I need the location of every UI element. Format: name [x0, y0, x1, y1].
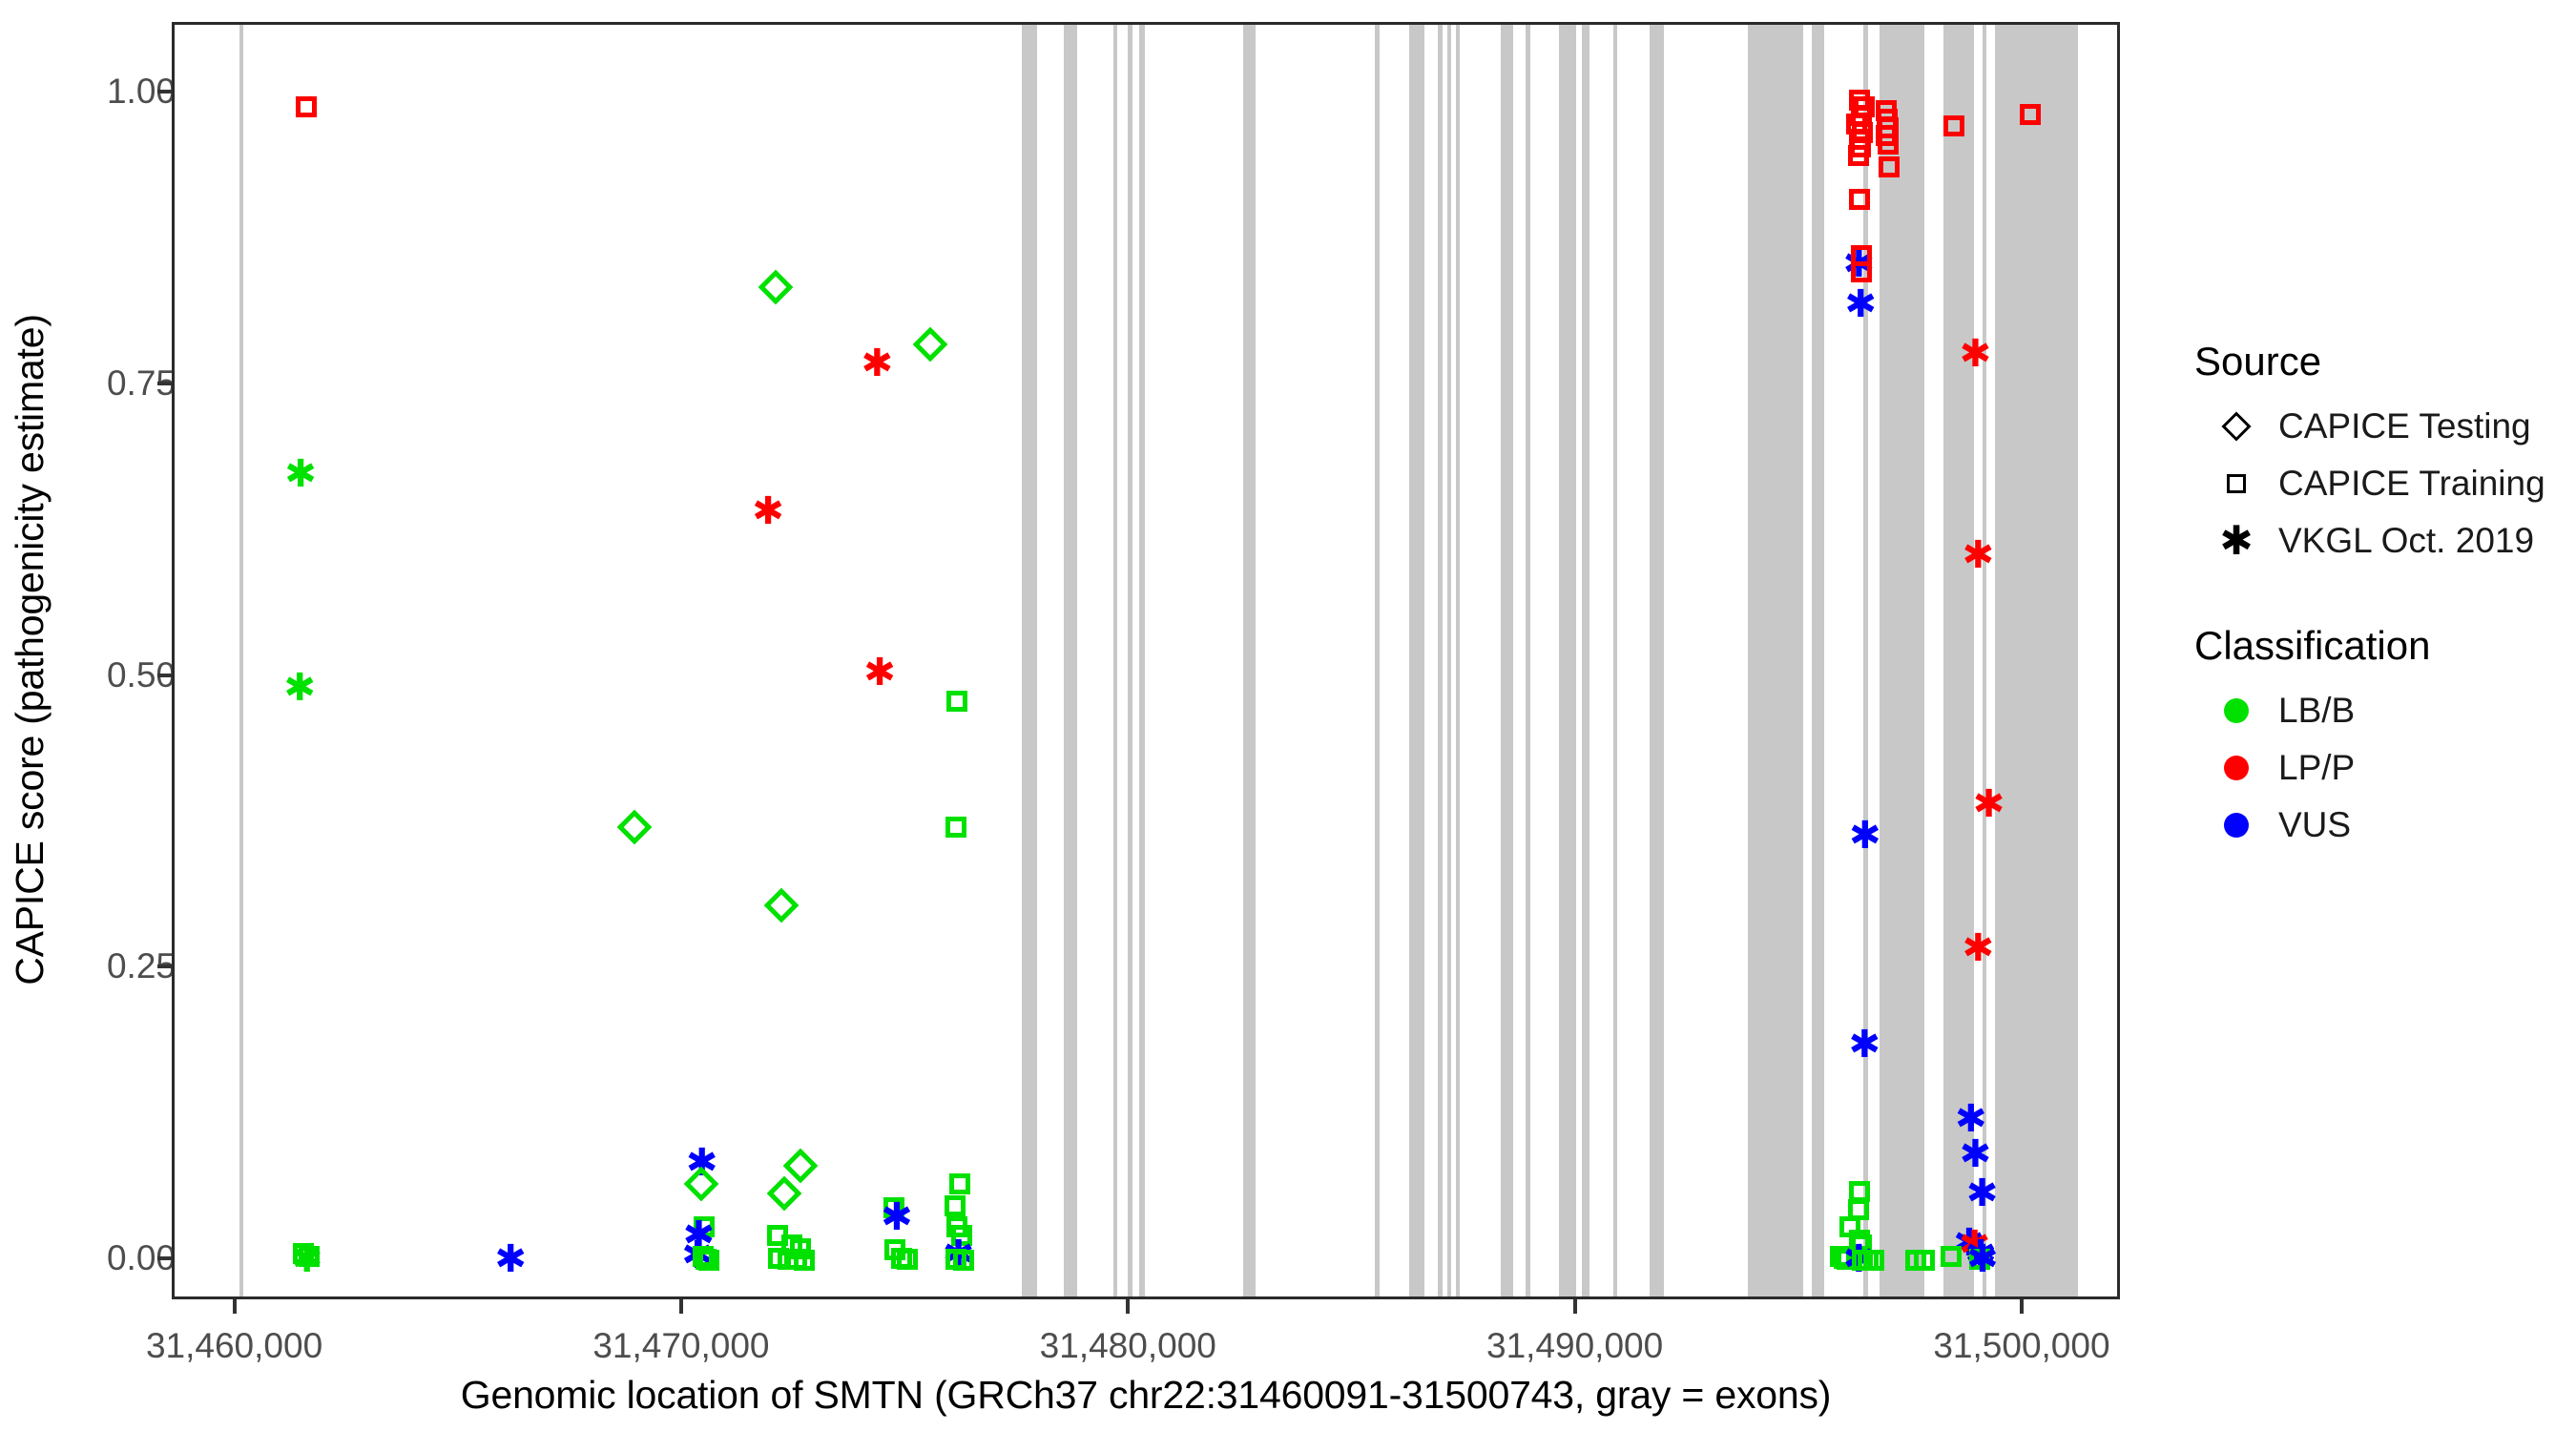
data-point-square: [296, 96, 317, 117]
data-point-diamond: [617, 810, 653, 845]
data-point-square: [897, 1249, 918, 1270]
exon-band: [1613, 25, 1617, 1296]
legend-source-item-row[interactable]: ✱VKGL Oct. 2019: [2194, 512, 2576, 570]
y-axis-title: CAPICE score (pathogenicity estimate): [0, 0, 59, 1299]
x-tick-mark: [233, 1299, 237, 1314]
legend-classification-item-row[interactable]: LP/P: [2194, 739, 2576, 797]
y-tick-label: 1.00: [4, 72, 176, 112]
plot-panel: ✱✱✱✱✱✱✱✱✱✱✱✱✱✱✱✱✱✱✱✱✱✱✱✱✱✱✱✱: [172, 22, 2120, 1299]
data-point-square: [794, 1250, 815, 1271]
plot-area: ✱✱✱✱✱✱✱✱✱✱✱✱✱✱✱✱✱✱✱✱✱✱✱✱✱✱✱✱: [175, 25, 2117, 1296]
legend-source-item-label: CAPICE Testing: [2278, 406, 2531, 446]
exon-band: [1526, 25, 1531, 1296]
legend-source-item-row[interactable]: CAPICE Testing: [2194, 398, 2576, 455]
exon-band: [1022, 25, 1037, 1296]
x-tick-mark: [1126, 1299, 1130, 1314]
data-point-square: [1849, 189, 1870, 210]
diamond-outline-icon: [2194, 416, 2278, 437]
y-tick-label: 0.00: [4, 1238, 176, 1278]
circle-filled-icon: [2194, 813, 2278, 838]
data-point-square: [1848, 145, 1869, 166]
legend-source-item-label: CAPICE Training: [2278, 464, 2545, 504]
chart-root: CAPICE score (pathogenicity estimate) 0.…: [0, 0, 2576, 1431]
x-tick-label: 31,480,000: [985, 1326, 1271, 1366]
data-point-diamond: [767, 1176, 802, 1212]
legend-classification-item-row[interactable]: VUS: [2194, 797, 2576, 854]
exon-band: [1559, 25, 1576, 1296]
y-tick-mark: [157, 964, 172, 968]
exon-band: [1128, 25, 1132, 1296]
y-tick-label: 0.50: [4, 655, 176, 695]
x-tick-label: 31,470,000: [538, 1326, 824, 1366]
legend-classification-item-label: VUS: [2278, 805, 2351, 845]
x-tick-mark: [1573, 1299, 1577, 1314]
exon-band: [1447, 25, 1451, 1296]
x-tick-label: 31,460,000: [92, 1326, 378, 1366]
x-tick-label: 31,500,000: [1879, 1326, 2165, 1366]
y-tick-mark: [157, 382, 172, 385]
data-point-square: [945, 817, 966, 838]
legend-title-classification: Classification: [2194, 623, 2576, 669]
legend-group-source: CAPICE TestingCAPICE Training✱VKGL Oct. …: [2194, 398, 2576, 570]
exon-band: [1880, 25, 1924, 1296]
exon-band: [1582, 25, 1589, 1296]
data-point-square: [1879, 156, 1900, 177]
data-point-square: [2020, 104, 2041, 125]
asterisk-icon: ✱: [2194, 521, 2278, 561]
legend-classification-item-label: LB/B: [2278, 691, 2355, 731]
data-point-diamond: [782, 1149, 818, 1184]
exon-band: [1243, 25, 1256, 1296]
exon-band: [1995, 25, 2079, 1296]
y-tick-mark: [157, 1256, 172, 1260]
exon-band: [1863, 25, 1867, 1296]
y-tick-label: 0.75: [4, 363, 176, 404]
legend-source-item-row[interactable]: CAPICE Training: [2194, 455, 2576, 512]
data-point-square: [1863, 1250, 1884, 1271]
exon-band: [1748, 25, 1804, 1296]
y-tick-label: 0.25: [4, 946, 176, 986]
exon-band: [239, 25, 243, 1296]
legend-title-source: Source: [2194, 339, 2576, 384]
data-point-square: [1914, 1250, 1935, 1271]
data-point-square: [946, 691, 967, 712]
legend-classification-item-label: LP/P: [2278, 748, 2355, 788]
exon-band: [1501, 25, 1513, 1296]
legend-spacer: [2194, 570, 2576, 623]
legend-classification-item-row[interactable]: LB/B: [2194, 682, 2576, 739]
data-point-square: [1851, 261, 1872, 282]
x-axis-title: Genomic location of SMTN (GRCh37 chr22:3…: [172, 1366, 2120, 1423]
exon-band: [1812, 25, 1824, 1296]
circle-filled-icon: [2194, 756, 2278, 780]
data-point-square: [1878, 134, 1899, 155]
exon-band: [1139, 25, 1145, 1296]
data-point-square: [1943, 115, 1964, 136]
x-tick-label: 31,490,000: [1432, 1326, 1718, 1366]
exon-band: [1456, 25, 1460, 1296]
exon-band: [1064, 25, 1077, 1296]
y-tick-mark: [157, 674, 172, 677]
legend-source-item-label: VKGL Oct. 2019: [2278, 521, 2534, 561]
data-point-square: [945, 1195, 966, 1216]
exon-band: [1438, 25, 1443, 1296]
chart-legend: Source CAPICE TestingCAPICE Training✱VKG…: [2194, 339, 2576, 854]
legend-group-classification: LB/BLP/PVUS: [2194, 682, 2576, 854]
data-point-diamond: [912, 327, 947, 363]
exon-band: [1375, 25, 1380, 1296]
exon-band: [1650, 25, 1664, 1296]
data-point-square: [698, 1250, 719, 1271]
data-point-diamond: [764, 888, 800, 923]
square-outline-icon: [2194, 474, 2278, 493]
data-point-square: [949, 1173, 970, 1194]
x-tick-mark: [2020, 1299, 2024, 1314]
circle-filled-icon: [2194, 698, 2278, 723]
data-point-diamond: [758, 270, 794, 305]
y-tick-mark: [157, 90, 172, 93]
data-point-square: [953, 1250, 974, 1271]
exon-band: [1113, 25, 1118, 1296]
exon-band: [1409, 25, 1424, 1296]
x-tick-mark: [679, 1299, 683, 1314]
